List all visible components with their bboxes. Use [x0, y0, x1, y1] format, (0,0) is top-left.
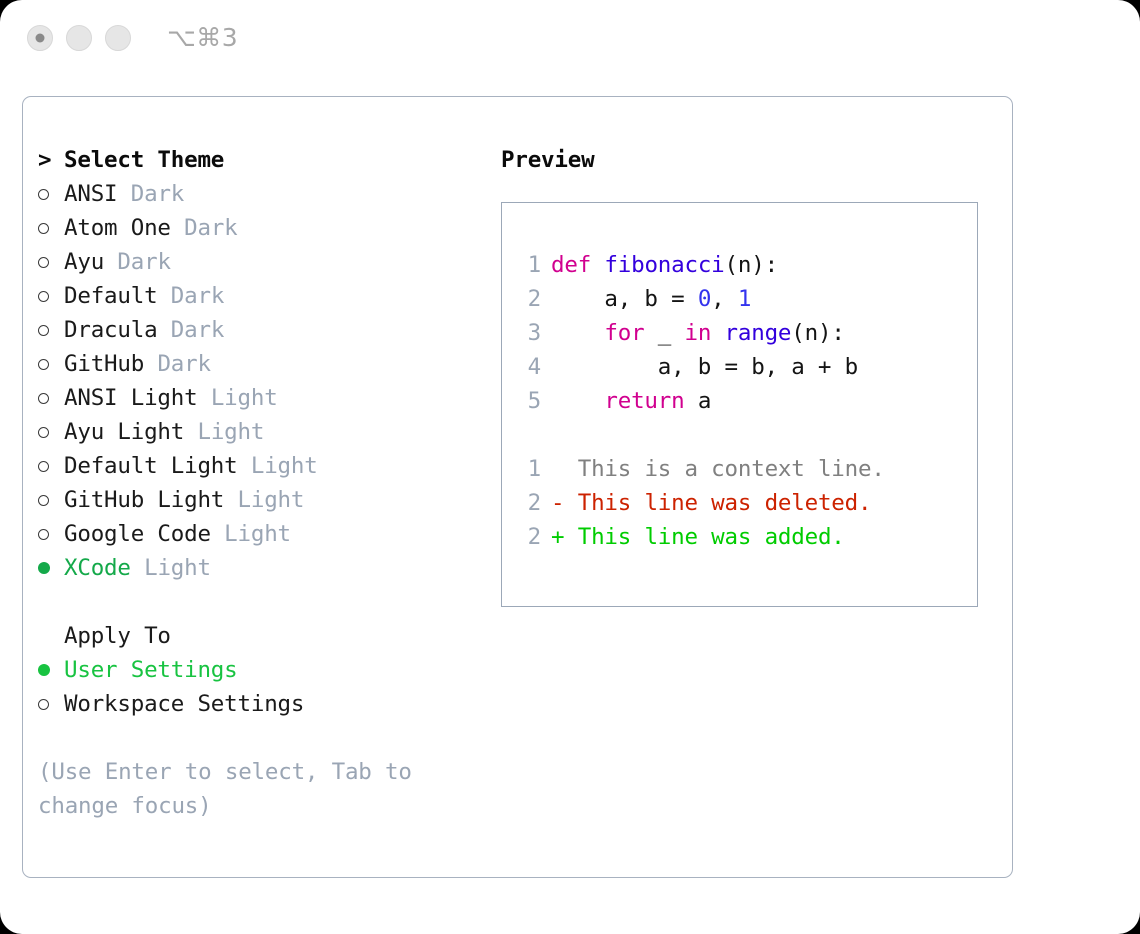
theme-name-tag-space — [197, 385, 210, 411]
apply-to-option-label: Workspace Settings — [64, 691, 304, 717]
theme-name: GitHub — [64, 351, 144, 377]
code-preview-content: 1def fibonacci(n):2 a, b = 0, 13 for _ i… — [515, 248, 971, 554]
apply-to-section: Apply To User SettingsWorkspace Settings — [38, 619, 478, 721]
code-line: 4 a, b = b, a + b — [515, 350, 971, 384]
app-window: ⌥⌘3 >Select Theme ANSI DarkAtom One Dark… — [0, 0, 1140, 934]
theme-variant-tag: Light — [144, 555, 211, 581]
code-diff-spacer — [515, 418, 971, 452]
theme-name-tag-space — [117, 181, 130, 207]
radio-unselected-icon-glyph — [38, 529, 49, 540]
theme-variant-tag: Light — [251, 453, 318, 479]
theme-name-tag-space — [211, 521, 224, 547]
diff-text: This line was added. — [578, 524, 845, 550]
theme-name: ANSI Light — [64, 385, 197, 411]
theme-list-item[interactable]: Default Light Light — [38, 449, 478, 483]
prompt-caret-icon: > — [38, 143, 64, 177]
hint-section: (Use Enter to select, Tab to change focu… — [38, 755, 478, 823]
window-controls — [27, 25, 131, 51]
radio-selected-icon-glyph — [38, 664, 50, 676]
diff-sign-space — [564, 490, 577, 516]
theme-list-item[interactable]: Atom One Dark — [38, 211, 478, 245]
diff-text: This line was deleted. — [578, 490, 872, 516]
code-token: fibonacci — [604, 252, 724, 278]
title-bar: ⌥⌘3 — [0, 0, 1140, 80]
code-token: (n): — [791, 320, 844, 346]
theme-picker-column: >Select Theme ANSI DarkAtom One DarkAyu … — [38, 143, 478, 823]
diff-text: This is a context line. — [578, 456, 885, 482]
diff-sign: - — [551, 490, 564, 516]
code-line-number: 3 — [515, 316, 541, 350]
diff-sign: + — [551, 524, 564, 550]
theme-variant-tag: Dark — [171, 317, 224, 343]
theme-list: ANSI DarkAtom One DarkAyu DarkDefault Da… — [38, 177, 478, 585]
radio-unselected-icon-glyph — [38, 495, 49, 506]
select-theme-heading-label: Select Theme — [64, 147, 224, 173]
theme-name: Ayu — [64, 249, 104, 275]
theme-variant-tag: Dark — [157, 351, 210, 377]
code-preview-box: 1def fibonacci(n):2 a, b = 0, 13 for _ i… — [501, 202, 978, 607]
diff-line: 1 This is a context line. — [515, 452, 971, 486]
diff-sign-space — [564, 456, 577, 482]
radio-unselected-icon — [38, 347, 64, 381]
theme-variant-tag: Dark — [171, 283, 224, 309]
code-token: , — [711, 286, 738, 312]
theme-variant-tag: Dark — [117, 249, 170, 275]
diff-sign-space — [564, 524, 577, 550]
radio-unselected-icon — [38, 449, 64, 483]
theme-list-item[interactable]: XCode Light — [38, 551, 478, 585]
keyboard-hint-text: (Use Enter to select, Tab to change focu… — [38, 755, 448, 823]
radio-unselected-icon — [38, 279, 64, 313]
radio-unselected-icon-glyph — [38, 427, 49, 438]
theme-list-item[interactable]: Dracula Dark — [38, 313, 478, 347]
radio-unselected-icon — [38, 211, 64, 245]
radio-selected-icon — [38, 653, 64, 687]
radio-unselected-icon-glyph — [38, 189, 49, 200]
theme-list-item[interactable]: GitHub Dark — [38, 347, 478, 381]
apply-to-heading: Apply To — [38, 619, 478, 653]
code-token: range — [725, 320, 792, 346]
radio-unselected-icon — [38, 517, 64, 551]
theme-list-item[interactable]: GitHub Light Light — [38, 483, 478, 517]
theme-list-item[interactable]: Ayu Dark — [38, 245, 478, 279]
theme-name-tag-space — [224, 487, 237, 513]
radio-unselected-icon — [38, 313, 64, 347]
radio-unselected-icon-glyph — [38, 223, 49, 234]
code-line-number: 2 — [515, 282, 541, 316]
theme-name: Default — [64, 283, 157, 309]
theme-variant-tag: Light — [197, 419, 264, 445]
theme-name-tag-space — [131, 555, 144, 581]
radio-unselected-icon-glyph — [38, 257, 49, 268]
code-token: a, b = — [551, 286, 698, 312]
theme-name-tag-space — [144, 351, 157, 377]
theme-name-tag-space — [171, 215, 184, 241]
radio-unselected-icon-glyph — [38, 393, 49, 404]
theme-name: Default Light — [64, 453, 238, 479]
code-token — [591, 252, 604, 278]
code-line: 3 for _ in range(n): — [515, 316, 971, 350]
apply-to-option-label: User Settings — [64, 657, 238, 683]
diff-sample: 1 This is a context line.2- This line wa… — [515, 452, 971, 554]
theme-name-tag-space — [157, 317, 170, 343]
window-close-dot[interactable] — [27, 25, 53, 51]
radio-selected-icon — [38, 551, 64, 585]
theme-name: Dracula — [64, 317, 157, 343]
radio-unselected-icon — [38, 245, 64, 279]
code-line: 1def fibonacci(n): — [515, 248, 971, 282]
radio-unselected-icon — [38, 687, 64, 721]
apply-to-options: User SettingsWorkspace Settings — [38, 653, 478, 721]
theme-name-tag-space — [104, 249, 117, 275]
code-token — [711, 320, 724, 346]
theme-variant-tag: Light — [238, 487, 305, 513]
theme-list-item[interactable]: Ayu Light Light — [38, 415, 478, 449]
diff-line-number: 2 — [515, 520, 541, 554]
apply-to-indent — [38, 619, 64, 653]
theme-name: ANSI — [64, 181, 117, 207]
code-line: 5 return a — [515, 384, 971, 418]
radio-unselected-icon-glyph — [38, 461, 49, 472]
code-token: 1 — [738, 286, 751, 312]
radio-unselected-icon-glyph — [38, 359, 49, 370]
code-line-number: 5 — [515, 384, 541, 418]
apply-to-option[interactable]: User Settings — [38, 653, 478, 687]
diff-line-number: 2 — [515, 486, 541, 520]
apply-to-heading-label: Apply To — [64, 623, 171, 649]
code-token: in — [684, 320, 711, 346]
diff-sign — [551, 456, 564, 482]
theme-name: Ayu Light — [64, 419, 184, 445]
code-token — [551, 388, 604, 414]
select-theme-heading: >Select Theme — [38, 143, 478, 177]
theme-list-item[interactable]: ANSI Dark — [38, 177, 478, 211]
radio-unselected-icon-glyph — [38, 699, 49, 710]
theme-list-item[interactable]: Default Dark — [38, 279, 478, 313]
theme-name: Atom One — [64, 215, 171, 241]
diff-line-number: 1 — [515, 452, 541, 486]
code-token: _ — [644, 320, 684, 346]
theme-variant-tag: Light — [211, 385, 278, 411]
radio-unselected-icon-glyph — [38, 325, 49, 336]
window-minimize-dot[interactable] — [66, 25, 92, 51]
code-token: def — [551, 252, 591, 278]
window-maximize-dot[interactable] — [105, 25, 131, 51]
code-sample: 1def fibonacci(n):2 a, b = 0, 13 for _ i… — [515, 248, 971, 418]
theme-name-tag-space — [157, 283, 170, 309]
apply-to-option[interactable]: Workspace Settings — [38, 687, 478, 721]
code-line: 2 a, b = 0, 1 — [515, 282, 971, 316]
code-token: return — [604, 388, 684, 414]
radio-unselected-icon-glyph — [38, 291, 49, 302]
diff-line: 2- This line was deleted. — [515, 486, 971, 520]
code-token: 0 — [698, 286, 711, 312]
radio-unselected-icon — [38, 483, 64, 517]
theme-list-item[interactable]: Google Code Light — [38, 517, 478, 551]
theme-variant-tag: Light — [224, 521, 291, 547]
theme-list-item[interactable]: ANSI Light Light — [38, 381, 478, 415]
theme-name: Google Code — [64, 521, 211, 547]
theme-name-tag-space — [184, 419, 197, 445]
preview-column: Preview 1def fibonacci(n):2 a, b = 0, 13… — [501, 143, 1001, 607]
diff-line: 2+ This line was added. — [515, 520, 971, 554]
main-panel: >Select Theme ANSI DarkAtom One DarkAyu … — [22, 96, 1013, 878]
theme-variant-tag: Dark — [184, 215, 237, 241]
code-line-number: 1 — [515, 248, 541, 282]
code-token — [551, 320, 604, 346]
code-token: for — [604, 320, 644, 346]
radio-unselected-icon — [38, 177, 64, 211]
code-token: a, b = b, a + b — [551, 354, 858, 380]
theme-name: XCode — [64, 555, 131, 581]
radio-unselected-icon — [38, 381, 64, 415]
theme-variant-tag: Dark — [131, 181, 184, 207]
code-token: a — [684, 388, 711, 414]
code-token: (n): — [725, 252, 778, 278]
radio-unselected-icon — [38, 415, 64, 449]
keyboard-shortcut-label: ⌥⌘3 — [167, 23, 238, 52]
radio-selected-icon-glyph — [38, 562, 50, 574]
preview-title: Preview — [501, 143, 1001, 177]
theme-name: GitHub Light — [64, 487, 224, 513]
code-line-number: 4 — [515, 350, 541, 384]
theme-name-tag-space — [238, 453, 251, 479]
